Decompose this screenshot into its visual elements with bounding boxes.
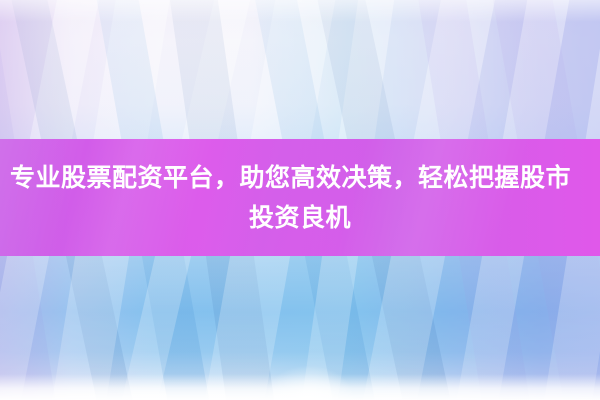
headline-line-1: 专业股票配资平台，助您高效决策，轻松把握股市	[8, 158, 592, 198]
promo-banner: 专业股票配资平台，助您高效决策，轻松把握股市 投资良机	[0, 0, 600, 400]
headline-text: 专业股票配资平台，助您高效决策，轻松把握股市 投资良机	[8, 158, 592, 238]
headline-line-2: 投资良机	[8, 198, 592, 238]
bottom-fade-overlay	[0, 374, 600, 400]
headline-strip: 专业股票配资平台，助您高效决策，轻松把握股市 投资良机	[0, 139, 600, 256]
